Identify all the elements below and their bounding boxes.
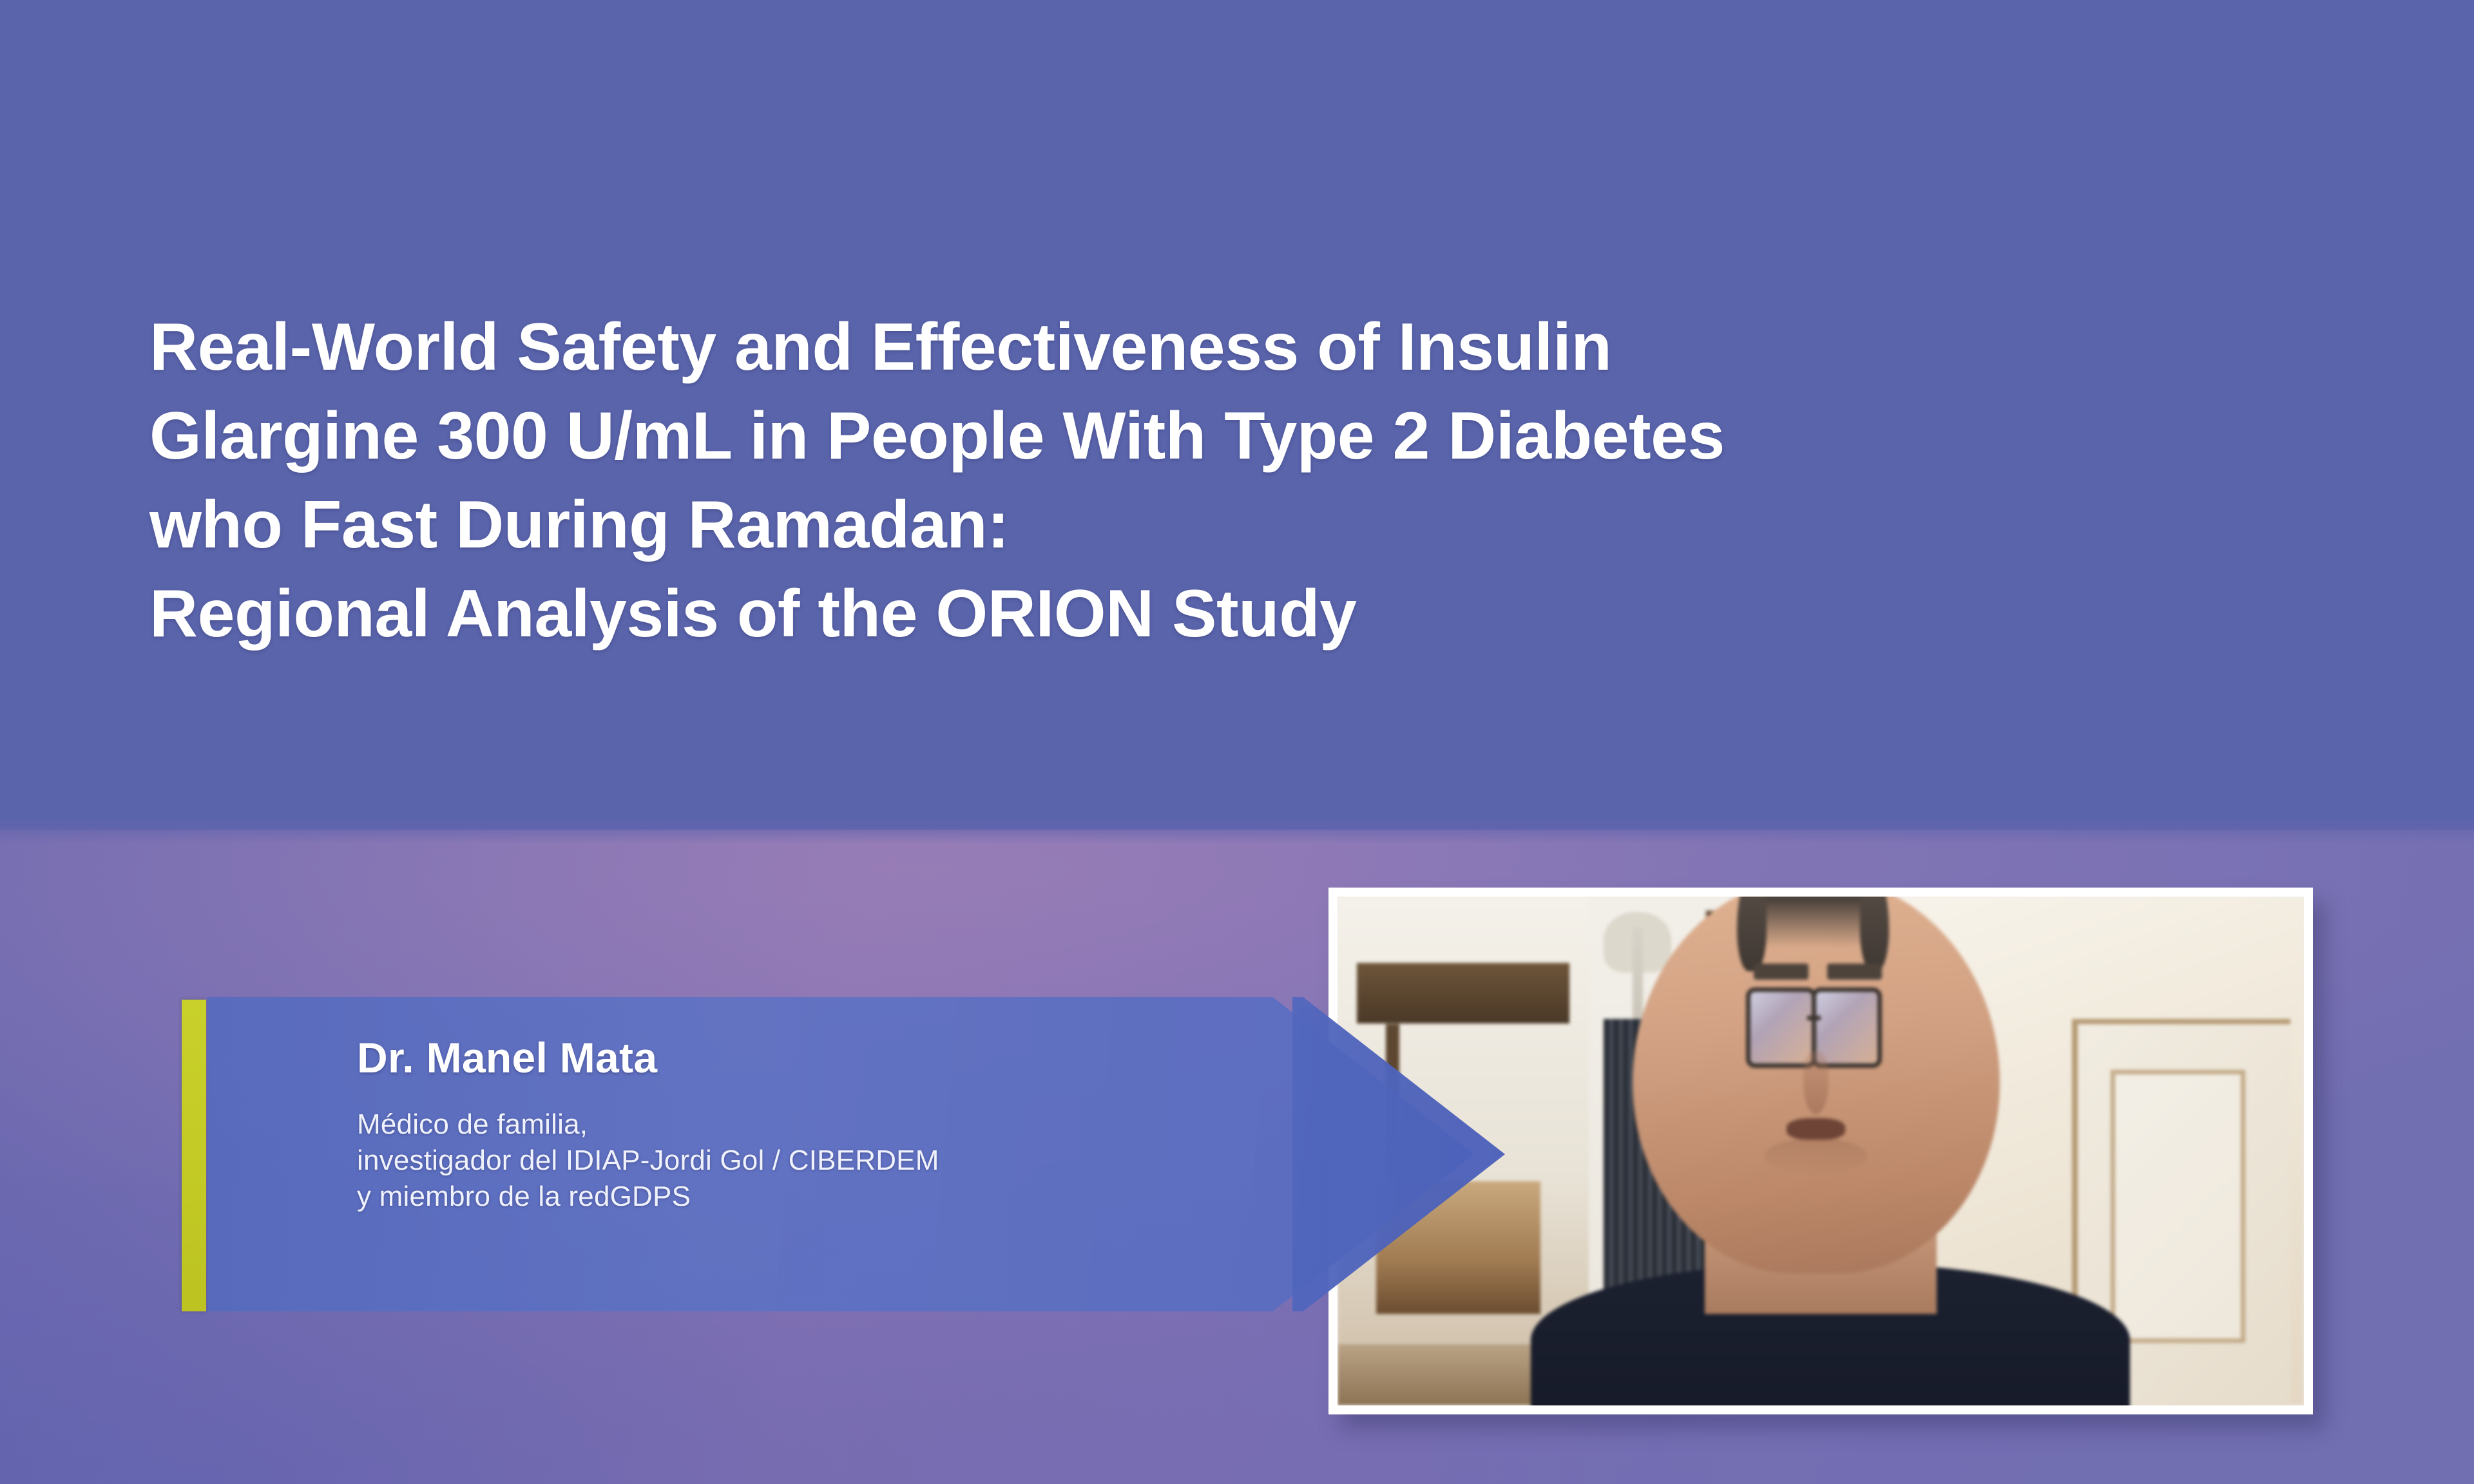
speaker-name: Dr. Manel Mata bbox=[357, 1033, 1323, 1082]
glasses-lens-left bbox=[1746, 987, 1816, 1068]
title-line-2: Glargine 300 U/mL in People With Type 2 … bbox=[149, 392, 2276, 480]
speaker-role-line-2: investigador del IDIAP-Jordi Gol / CIBER… bbox=[357, 1143, 1323, 1179]
speaker-role-line-3: y miembro de la redGDPS bbox=[357, 1179, 1323, 1215]
banner-text-group: Dr. Manel Mata Médico de familia, invest… bbox=[357, 1033, 1323, 1215]
speaker-role: Médico de familia, investigador del IDIA… bbox=[357, 1107, 1323, 1215]
speaker-role-line-1: Médico de familia, bbox=[357, 1107, 1323, 1143]
slide-background-seam bbox=[0, 817, 2474, 844]
speaker-head bbox=[1633, 897, 2000, 1273]
glasses-bridge bbox=[1807, 1016, 1821, 1020]
speaker-eyebrow-right bbox=[1827, 964, 1883, 980]
speaker-hair-right bbox=[1860, 897, 1890, 971]
title-line-1: Real-World Safety and Effectiveness of I… bbox=[149, 303, 2276, 392]
glasses-icon bbox=[1746, 987, 1882, 1059]
speaker-hair-left bbox=[1737, 897, 1767, 971]
speaker-eyebrow-left bbox=[1754, 964, 1809, 980]
title-line-3: who Fast During Ramadan: bbox=[149, 480, 2276, 569]
speaker-mouth bbox=[1787, 1118, 1845, 1140]
speaker-chin-shadow bbox=[1765, 1138, 1868, 1174]
accent-bar bbox=[182, 1000, 206, 1311]
slide-title: Real-World Safety and Effectiveness of I… bbox=[149, 303, 2276, 658]
presentation-slide: Real-World Safety and Effectiveness of I… bbox=[0, 0, 2474, 1484]
room-door-panel bbox=[2111, 1070, 2245, 1344]
title-line-4: Regional Analysis of the ORION Study bbox=[149, 569, 2276, 658]
room-shelf bbox=[1357, 963, 1569, 1024]
speaker-nose bbox=[1803, 1051, 1829, 1115]
